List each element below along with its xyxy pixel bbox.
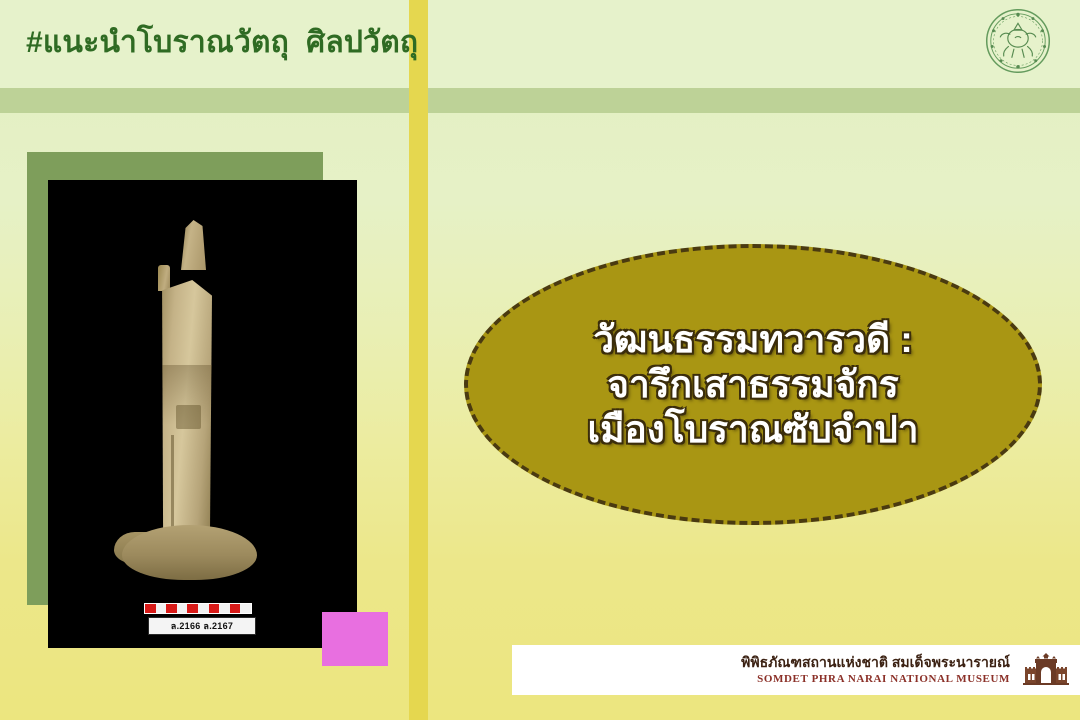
poster-canvas: #แนะนำโบราณวัตถุ ศิลปวัตถุ — [0, 0, 1080, 720]
palace-gate-icon — [1020, 652, 1072, 688]
museum-name-english: SOMDET PHRA NARAI NATIONAL MUSEUM — [741, 672, 1010, 686]
title-line-3: เมืองโบราณซับจำปา — [588, 407, 919, 452]
artefact-catalogue-label: ล.2166 ล.2167 — [148, 617, 256, 635]
horizontal-green-stripe — [0, 88, 1080, 113]
pillar-cap — [181, 220, 206, 270]
magenta-accent-square — [322, 612, 388, 666]
title-line-2: จารึกเสาธรรมจักร — [607, 362, 898, 407]
photo-scale-bar — [144, 603, 252, 614]
vertical-yellow-stripe — [409, 0, 428, 720]
pillar-base — [122, 525, 257, 580]
title-line-1: วัฒนธรรมทวารวดี : — [593, 317, 912, 362]
museum-name-block: พิพิธภัณฑสถานแห่งชาติ สมเด็จพระนารายณ์ S… — [741, 654, 1020, 686]
pillar-carved-panel — [176, 405, 201, 429]
artefact-photo: ล.2166 ล.2167 — [48, 180, 357, 648]
hashtag-headline: #แนะนำโบราณวัตถุ ศิลปวัตถุ — [26, 24, 418, 62]
pillar-side-nub — [158, 265, 170, 291]
title-ellipse: วัฒนธรรมทวารวดี : จารึกเสาธรรมจักร เมือง… — [464, 244, 1042, 525]
pillar-groove — [171, 435, 174, 535]
museum-footer-banner: พิพิธภัณฑสถานแห่งชาติ สมเด็จพระนารายณ์ S… — [512, 645, 1080, 695]
artefact-illustration — [48, 180, 357, 648]
museum-name-thai: พิพิธภัณฑสถานแห่งชาติ สมเด็จพระนารายณ์ — [741, 654, 1010, 672]
fine-arts-department-seal-icon — [984, 7, 1052, 75]
